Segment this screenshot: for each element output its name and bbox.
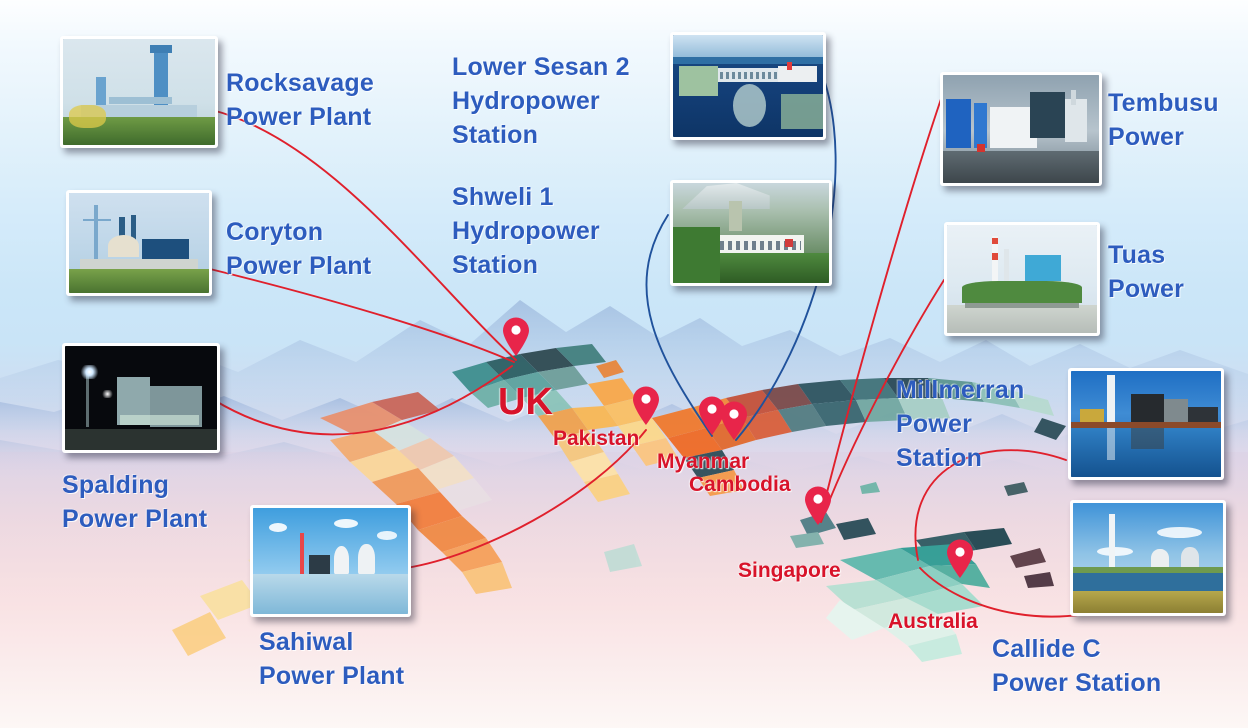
- photo-spalding[interactable]: [62, 343, 220, 453]
- photo-tuas[interactable]: [944, 222, 1100, 336]
- photo-image-sahiwal: [253, 508, 408, 614]
- connector-sahiwal-pak: [406, 430, 646, 568]
- infographic-canvas: Rocksavage Power PlantCoryton Power Plan…: [0, 0, 1248, 728]
- pin-australia[interactable]: [945, 539, 975, 584]
- photo-rocksavage[interactable]: [60, 36, 218, 148]
- photo-millmerran[interactable]: [1068, 368, 1224, 480]
- connector-spalding-uk: [214, 366, 512, 434]
- country-label-cambodia: Cambodia: [689, 473, 791, 496]
- photo-callide-c[interactable]: [1070, 500, 1226, 616]
- country-label-myanmar: Myanmar: [657, 450, 749, 473]
- pin-myanmar[interactable]: [697, 396, 727, 441]
- map-pin-icon: [719, 401, 749, 441]
- photo-image-callide-c: [1073, 503, 1223, 613]
- photo-image-rocksavage: [63, 39, 215, 145]
- map-pin-icon: [501, 317, 531, 357]
- caption-tembusu: Tembusu Power: [1108, 86, 1219, 154]
- photo-sahiwal[interactable]: [250, 505, 411, 617]
- pin-singapore[interactable]: [803, 486, 833, 531]
- photo-image-tembusu: [943, 75, 1099, 183]
- photo-image-shweli: [673, 183, 829, 283]
- caption-millmerran: Millmerran Power Station: [896, 373, 1024, 475]
- caption-shweli: Shweli 1 Hydropower Station: [452, 180, 600, 282]
- photo-shweli[interactable]: [670, 180, 832, 286]
- photo-image-tuas: [947, 225, 1097, 333]
- map-pin-icon: [631, 386, 661, 426]
- map-pin-icon: [945, 539, 975, 579]
- caption-tuas: Tuas Power: [1108, 238, 1184, 306]
- photo-tembusu[interactable]: [940, 72, 1102, 186]
- photo-image-lower-sesan: [673, 35, 823, 137]
- caption-callide-c: Callide C Power Station: [992, 632, 1161, 700]
- photo-image-spalding: [65, 346, 217, 450]
- country-label-australia: Australia: [888, 610, 978, 633]
- map-pin-icon: [697, 396, 727, 436]
- country-label-singapore: Singapore: [738, 559, 841, 582]
- caption-sahiwal: Sahiwal Power Plant: [259, 625, 404, 693]
- pin-pakistan[interactable]: [631, 386, 661, 431]
- caption-rocksavage: Rocksavage Power Plant: [226, 66, 374, 134]
- country-label-pakistan: Pakistan: [553, 427, 639, 450]
- photo-image-millmerran: [1071, 371, 1221, 477]
- caption-coryton: Coryton Power Plant: [226, 215, 371, 283]
- caption-lower-sesan: Lower Sesan 2 Hydropower Station: [452, 50, 630, 152]
- photo-coryton[interactable]: [66, 190, 212, 296]
- photo-image-coryton: [69, 193, 209, 293]
- pin-uk[interactable]: [501, 317, 531, 362]
- caption-spalding: Spalding Power Plant: [62, 468, 207, 536]
- pin-cambodia[interactable]: [719, 401, 749, 446]
- map-pin-icon: [803, 486, 833, 526]
- country-label-uk: UK: [498, 382, 553, 424]
- photo-lower-sesan[interactable]: [670, 32, 826, 140]
